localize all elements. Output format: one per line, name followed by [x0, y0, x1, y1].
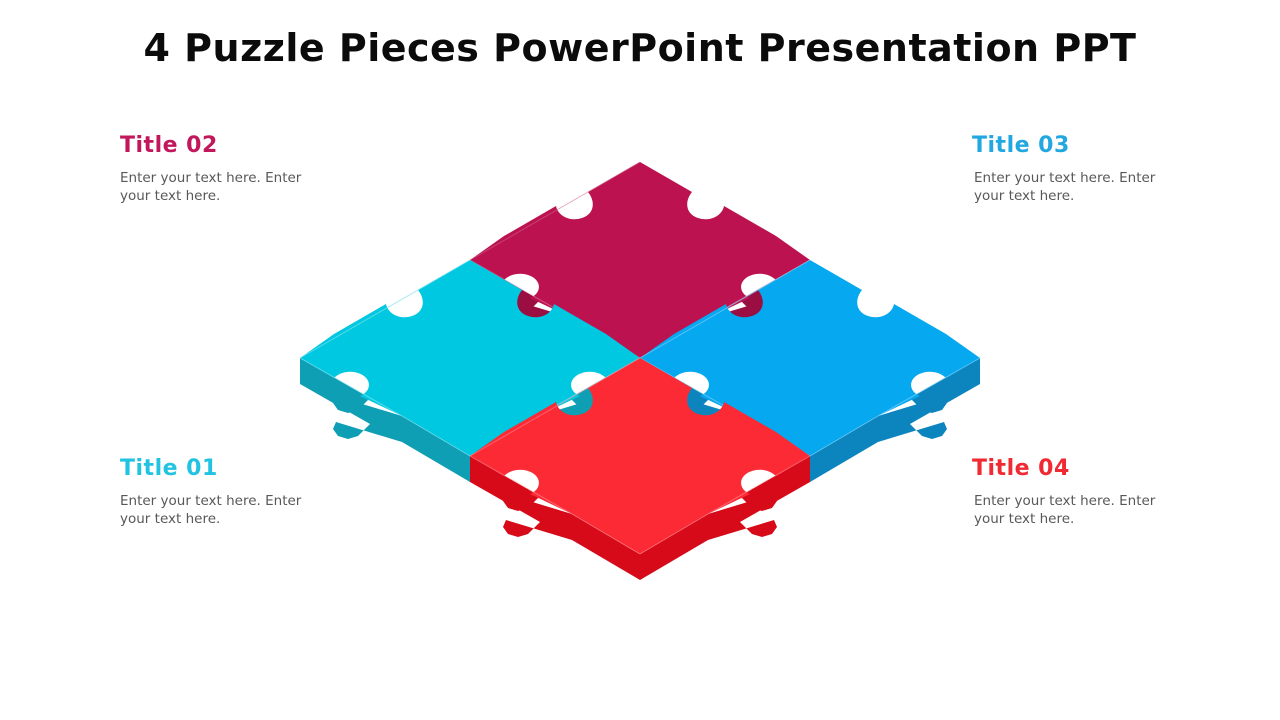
block-title-01: Title 01	[120, 456, 335, 481]
block-title-03: Title 03	[972, 133, 1187, 158]
text-block-02: Title 02 Enter your text here. Enter you…	[120, 133, 335, 206]
block-body-01: Enter your text here. Enter your text he…	[120, 493, 335, 529]
page-title: 4 Puzzle Pieces PowerPoint Presentation …	[0, 26, 1280, 70]
block-title-04: Title 04	[972, 456, 1187, 481]
block-body-03: Enter your text here. Enter your text he…	[972, 170, 1187, 206]
block-title-02: Title 02	[120, 133, 335, 158]
block-body-04: Enter your text here. Enter your text he…	[972, 493, 1187, 529]
text-block-01: Title 01 Enter your text here. Enter you…	[120, 456, 335, 529]
puzzle-svg	[290, 130, 990, 590]
slide-canvas: 4 Puzzle Pieces PowerPoint Presentation …	[0, 0, 1280, 720]
text-block-04: Title 04 Enter your text here. Enter you…	[972, 456, 1187, 529]
puzzle-diagram	[290, 130, 990, 590]
block-body-02: Enter your text here. Enter your text he…	[120, 170, 335, 206]
text-block-03: Title 03 Enter your text here. Enter you…	[972, 133, 1187, 206]
